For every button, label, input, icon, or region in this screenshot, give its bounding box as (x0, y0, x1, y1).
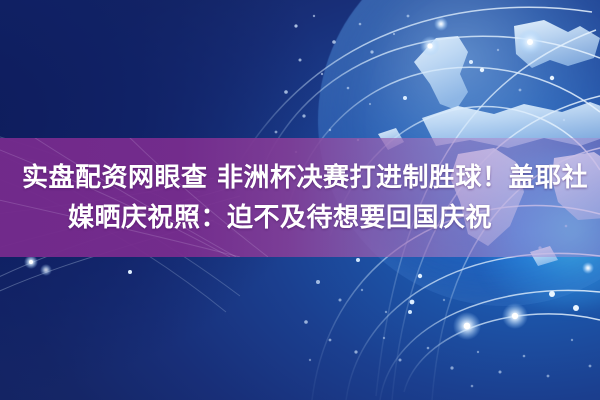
headline-line-1: 实盘配资网眼查 非洲杯决赛打进制胜球！盖耶社 (22, 158, 588, 198)
banner-image: 实盘配资网眼查 非洲杯决赛打进制胜球！盖耶社 媒晒庆祝照：迫不及待想要回国庆祝 (0, 0, 600, 400)
headline-text: 实盘配资网眼查 非洲杯决赛打进制胜球！盖耶社 媒晒庆祝照：迫不及待想要回国庆祝 (0, 138, 600, 257)
headline-line-2: 媒晒庆祝照：迫不及待想要回国庆祝 (68, 198, 492, 238)
